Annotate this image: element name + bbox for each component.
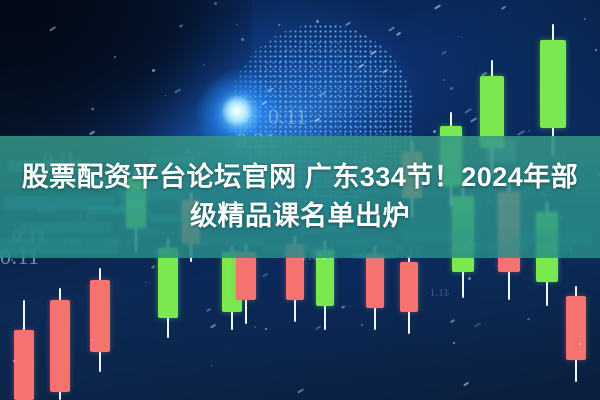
candlestick-down (14, 300, 34, 400)
candlestick-body (400, 262, 418, 312)
particle (241, 38, 244, 41)
particle (458, 36, 459, 37)
particle (91, 339, 93, 341)
particle (595, 49, 597, 51)
headline-line-2: 级精品课名单出炉 (190, 199, 410, 234)
particle (584, 18, 586, 20)
particle (361, 324, 363, 326)
particle (450, 87, 453, 90)
banner-image: 0.110.110.111.011.011.011.010.111.010.21… (0, 0, 600, 400)
candlestick-down (400, 256, 418, 334)
candlestick-body (540, 40, 566, 128)
particle (468, 277, 471, 280)
particle (92, 330, 94, 332)
headline-line-1: 股票配资平台论坛官网 广东334节！2024年部 (22, 160, 579, 195)
particle (433, 130, 436, 133)
headline-band: 股票配资平台论坛官网 广东334节！2024年部 级精品课名单出炉 (0, 136, 600, 258)
particle (203, 64, 205, 66)
glow-burst-core (222, 96, 252, 126)
candlestick-down (50, 288, 70, 400)
candlestick-body (50, 300, 70, 392)
candlestick-down (566, 286, 586, 382)
candlestick-body (566, 296, 586, 360)
particle (13, 360, 15, 362)
ticker-number: 0.11 (268, 104, 308, 130)
particle (214, 2, 217, 5)
candlestick-body (90, 280, 110, 352)
candlestick-body (14, 330, 34, 400)
particle (443, 79, 445, 81)
ticker-number: 1.11 (430, 288, 449, 299)
candlestick-down (90, 268, 110, 372)
particle (579, 343, 581, 345)
candlestick-body (366, 254, 384, 308)
particle (316, 20, 319, 23)
candlestick-body (236, 252, 256, 300)
particle (114, 56, 116, 58)
candlestick-body (158, 248, 178, 318)
particle (278, 24, 280, 26)
particle (152, 69, 155, 72)
